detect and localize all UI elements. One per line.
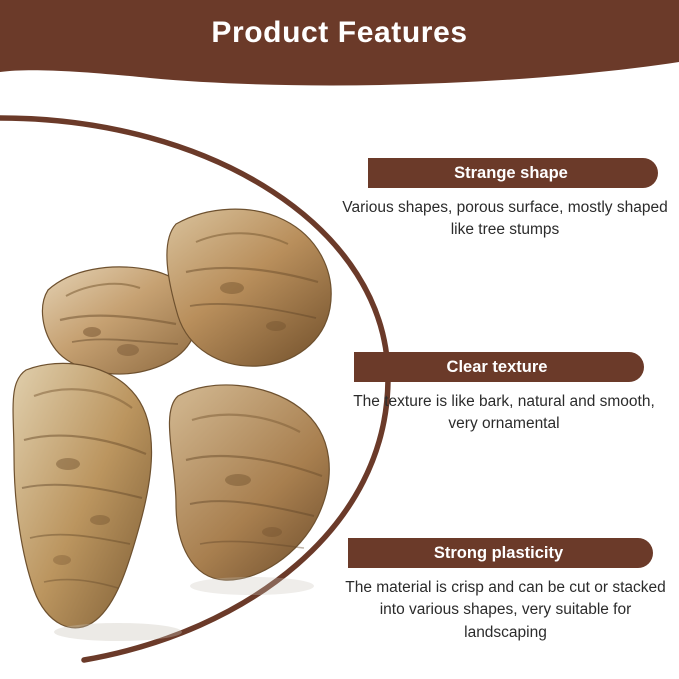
header-banner: Product Features [0,0,679,86]
product-feature-infographic: Product Features [0,0,679,679]
feature-block-strange-shape: Strange shape Various shapes, porous sur… [348,158,658,242]
rock-middle [169,385,329,580]
feature-block-clear-texture: Clear texture The texture is like bark, … [348,352,658,436]
rock-shadow [190,577,314,595]
feature-title-pill: Strong plasticity [348,538,653,568]
feature-description: The texture is like bark, natural and sm… [344,391,664,436]
rock-bottom-left [13,363,152,628]
feature-title-pill: Clear texture [354,352,644,382]
feature-description: Various shapes, porous surface, mostly s… [340,197,670,242]
page-title: Product Features [0,16,679,50]
feature-title-pill: Strange shape [368,158,658,188]
rock-shadow [54,623,182,641]
rock-top-right [167,209,331,366]
feature-block-strong-plasticity: Strong plasticity The material is crisp … [348,538,658,644]
feature-description: The material is crisp and can be cut or … [338,577,673,644]
